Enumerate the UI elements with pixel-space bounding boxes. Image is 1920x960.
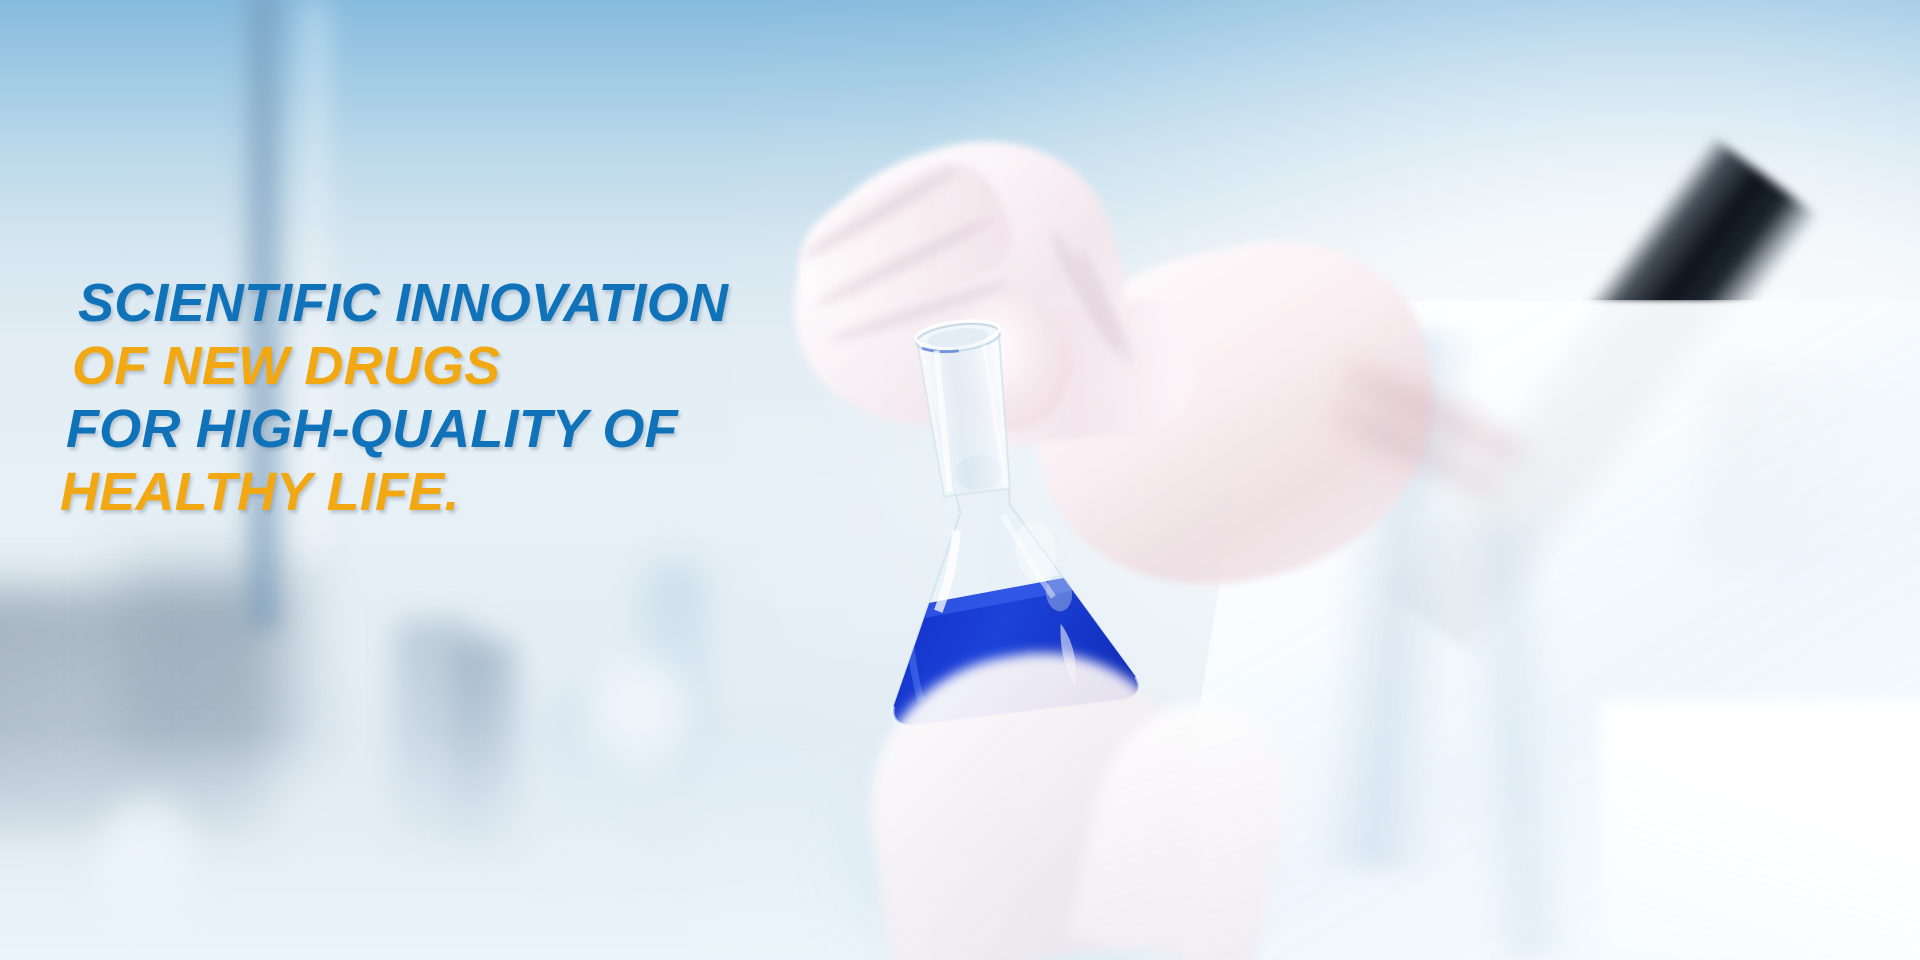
headline: SCIENTIFIC INNOVATION OF NEW DRUGS FOR H… — [0, 272, 860, 524]
lab-coat-edge — [1600, 700, 1920, 960]
headline-line-4: HEALTHY LIFE. — [60, 461, 860, 524]
headline-line-1: SCIENTIFIC INNOVATION — [78, 272, 860, 335]
hero-banner: SCIENTIFIC INNOVATION OF NEW DRUGS FOR H… — [0, 0, 1920, 960]
headline-line-2: OF NEW DRUGS — [72, 335, 860, 398]
headline-line-3: FOR HIGH-QUALITY OF — [66, 398, 860, 461]
